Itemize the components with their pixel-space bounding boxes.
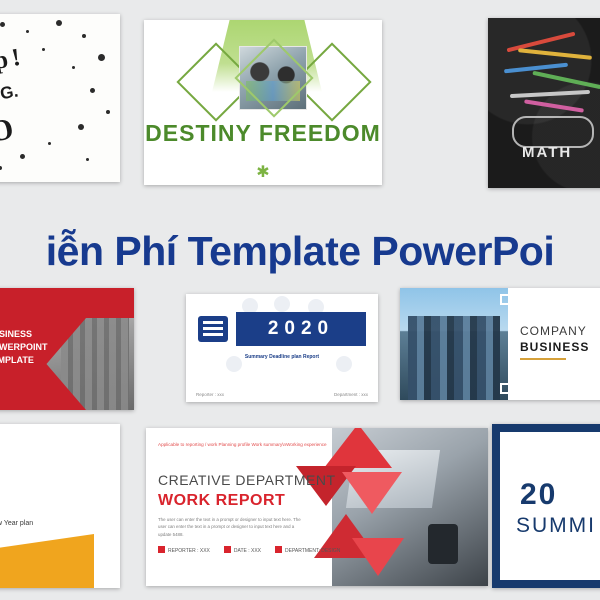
slide-red-business[interactable]: BUSINESS POWERPOINT TEMPLATE: [0, 288, 134, 410]
tag-reporter: REPORTER : XXX: [158, 546, 210, 554]
company-line-2: BUSINESS: [520, 340, 589, 354]
year-footer: Reporter : xxx Department : xxx: [196, 392, 368, 397]
slide-company-business[interactable]: COMPANY BUSINESS: [400, 288, 600, 400]
orange-wedge-shape: [0, 534, 94, 588]
banner-text: iễn Phí Template PowerPoi: [46, 228, 554, 275]
slide-summit-2020[interactable]: 20 SUMMI: [492, 424, 600, 588]
slide-destiny-freedom[interactable]: DESTINY FREEDOM ✱: [144, 20, 382, 185]
company-line-1: COMPANY: [520, 324, 587, 338]
slide-confetti[interactable]: p ! NG. O: [0, 14, 120, 182]
red-triangle-1: [324, 428, 392, 468]
year-label: 2020: [236, 312, 366, 346]
slide-chalkboard[interactable]: MATH: [488, 18, 600, 188]
creative-subtitle: WORK REPORT: [158, 492, 285, 510]
company-text-panel: COMPANY BUSINESS: [508, 288, 600, 400]
summit-white-panel: 20 SUMMI: [500, 432, 600, 580]
red-triangle-3: [342, 472, 402, 514]
year-caption: Summary Deadline plan Report: [186, 354, 378, 360]
footer-reporter: Reporter : xxx: [196, 392, 224, 397]
tag-department: DEPARTMENT: DESIGN: [275, 546, 340, 554]
collage-background: p ! NG. O DESTINY FREEDOM ✱ MATH iễn Phí…: [0, 0, 600, 600]
summit-word: SUMMI: [516, 514, 596, 538]
creative-body-text: The user can enter the text in a prompt …: [158, 516, 308, 538]
destiny-freedom-title: DESTINY FREEDOM: [144, 120, 382, 147]
red-business-text: BUSINESS POWERPOINT TEMPLATE: [0, 328, 48, 367]
creative-tags: REPORTER : XXX DATE : XXX DEPARTMENT: DE…: [158, 546, 340, 554]
slide-creative-department[interactable]: Applicable to reporting / work Planning …: [146, 428, 488, 586]
slide-year-2020[interactable]: 2020 Summary Deadline plan Report Report…: [186, 294, 378, 402]
new-year-plan-text: New Year plan: [0, 520, 33, 527]
chalkboard-word: MATH: [522, 144, 572, 161]
chalkboard-surface: MATH: [488, 18, 600, 188]
red-line-3: TEMPLATE: [0, 354, 48, 367]
document-icon: [198, 316, 228, 342]
footer-department: Department : xxx: [334, 392, 368, 397]
red-line-2: POWERPOINT: [0, 341, 48, 354]
red-top-bar: [0, 288, 134, 318]
gold-underline: [520, 358, 566, 360]
tag-date: DATE : XXX: [224, 546, 261, 554]
asterisk-icon: ✱: [256, 162, 269, 182]
summit-year: 20: [520, 478, 557, 512]
banner-headline: iễn Phí Template PowerPoi: [0, 215, 600, 287]
creative-eyebrow: Applicable to reporting / work Planning …: [158, 442, 327, 449]
slide-new-year-plan[interactable]: New Year plan: [0, 424, 120, 588]
red-line-1: BUSINESS: [0, 328, 48, 341]
red-triangle-5: [352, 538, 404, 576]
creative-title: CREATIVE DEPARTMENT: [158, 472, 336, 488]
skyscraper-photo: [400, 288, 508, 400]
